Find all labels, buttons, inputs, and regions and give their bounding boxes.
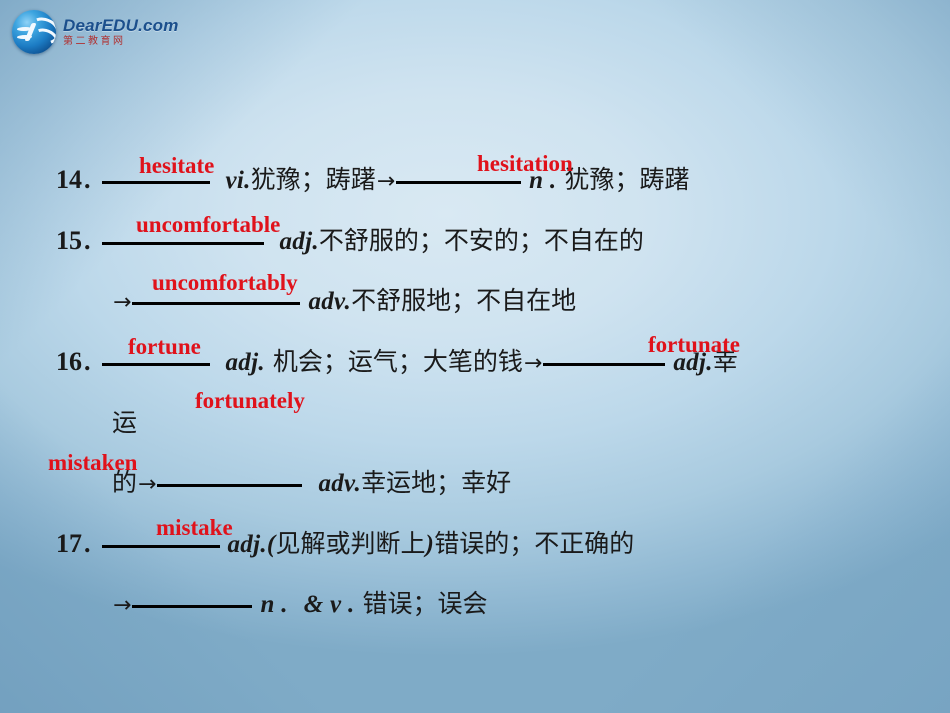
answer-blank[interactable] xyxy=(157,484,302,487)
answer-blank[interactable] xyxy=(102,363,210,366)
list-item-continuation: 的→adv.幸运地；幸好 mistaken xyxy=(56,453,916,514)
derivation-arrow: → xyxy=(112,290,132,315)
answer-label: mistake xyxy=(156,516,233,539)
definition-text: 机会；运气；大笔的钱 xyxy=(273,347,523,376)
part-of-speech: adj. xyxy=(226,349,265,376)
definition-text: 运 xyxy=(112,408,137,437)
definition-text: 不舒服的；不安的；不自在的 xyxy=(319,226,644,255)
part-of-speech: adv. xyxy=(318,470,361,497)
list-item: 17.adj.(见解或判断上)错误的；不正确的 mistake xyxy=(56,514,916,574)
answer-label: uncomfortable xyxy=(136,213,280,236)
item-number: 17 xyxy=(56,529,82,558)
part-of-speech: n . xyxy=(260,591,287,618)
answer-blank[interactable] xyxy=(102,242,264,245)
answer-label: fortunate xyxy=(648,333,740,356)
answer-label: mistaken xyxy=(48,451,137,474)
item-period: . xyxy=(82,165,94,194)
answer-blank[interactable] xyxy=(132,302,300,305)
logo-text-block: DearEDU.com 第二教育网 xyxy=(63,17,179,47)
definition-text: 见解或判断上 xyxy=(276,529,426,558)
item-number: 14 xyxy=(56,165,82,194)
logo-brand-name: DearEDU.com xyxy=(63,17,179,34)
item-number: 15 xyxy=(56,226,82,255)
list-item-continuation: →adv.不舒服地；不自在地 uncomfortably xyxy=(56,271,916,332)
answer-blank[interactable] xyxy=(132,605,252,608)
answer-blank[interactable] xyxy=(396,181,521,184)
answer-blank[interactable] xyxy=(102,545,220,548)
answer-label: hesitation xyxy=(477,152,573,175)
logo-brand-subtitle: 第二教育网 xyxy=(63,37,179,47)
list-item-continuation: →n .& v .错误；误会 xyxy=(56,574,916,635)
derivation-arrow: → xyxy=(523,351,543,376)
part-of-speech: & v . xyxy=(304,591,355,618)
answer-label: fortune xyxy=(128,335,201,358)
list-item: 14.vi.犹豫；踌躇→n .犹豫；踌躇 hesitate hesitation xyxy=(56,150,916,211)
list-item-continuation: 运 fortunately xyxy=(56,393,916,453)
item-period: . xyxy=(82,226,94,255)
item-period: . xyxy=(82,529,94,558)
part-of-speech: adj.( xyxy=(228,531,276,558)
list-item: 16.adj.机会；运气；大笔的钱→adj.幸 fortune fortunat… xyxy=(56,332,916,393)
paren-close: ) xyxy=(426,531,435,558)
item-number: 16 xyxy=(56,347,82,376)
part-of-speech: adj. xyxy=(280,228,319,255)
list-item: 15.adj.不舒服的；不安的；不自在的 uncomfortable xyxy=(56,211,916,271)
derivation-arrow: → xyxy=(112,593,132,618)
derivation-arrow: → xyxy=(137,472,157,497)
part-of-speech: vi. xyxy=(226,167,251,194)
item-period: . xyxy=(82,347,94,376)
definition-text: 幸运地；幸好 xyxy=(361,468,511,497)
answer-label: fortunately xyxy=(195,389,305,412)
definition-text: 错误；误会 xyxy=(363,589,488,618)
slide-canvas: DearEDU.com 第二教育网 14.vi.犹豫；踌躇→n .犹豫；踌躇 h… xyxy=(0,0,950,713)
definition-text: 犹豫；踌躇 xyxy=(251,165,376,194)
globe-icon xyxy=(12,10,56,54)
answer-label: hesitate xyxy=(139,154,214,177)
definition-text: 犹豫；踌躇 xyxy=(564,165,689,194)
answer-label: uncomfortably xyxy=(152,271,298,294)
dearedu-logo: DearEDU.com 第二教育网 xyxy=(12,10,179,54)
definition-text: 不舒服地；不自在地 xyxy=(351,286,576,315)
answer-blank[interactable] xyxy=(543,363,665,366)
vocabulary-list: 14.vi.犹豫；踌躇→n .犹豫；踌躇 hesitate hesitation… xyxy=(56,150,916,635)
part-of-speech: adv. xyxy=(308,288,351,315)
answer-blank[interactable] xyxy=(102,181,210,184)
definition-text: 错误的；不正确的 xyxy=(434,529,634,558)
derivation-arrow: → xyxy=(376,169,396,194)
